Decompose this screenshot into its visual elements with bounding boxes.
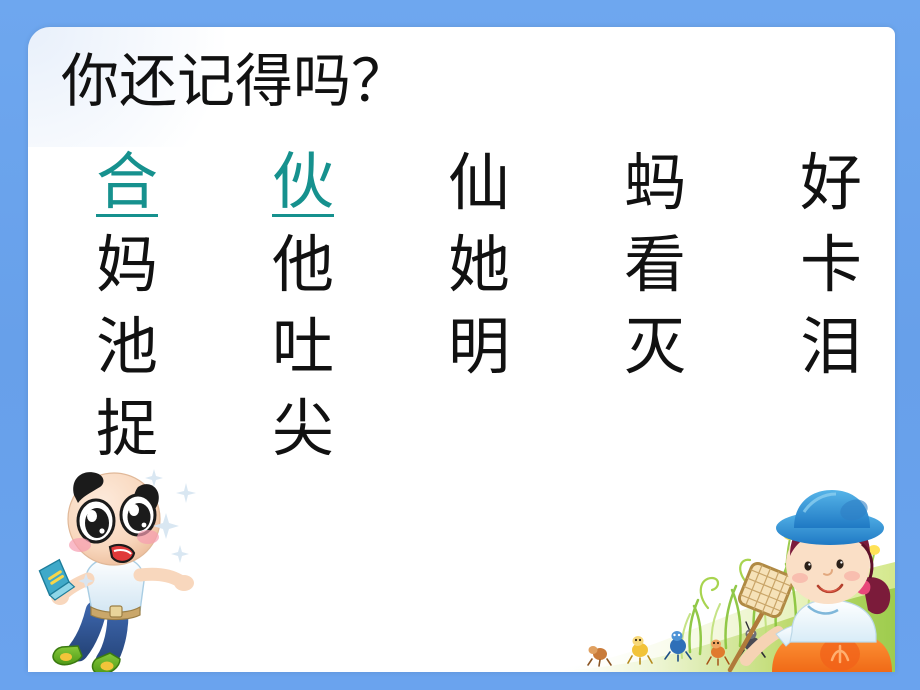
character-glyph: 明 (422, 317, 510, 379)
girl-blush-left (792, 573, 808, 583)
girl-blush-right (844, 571, 860, 581)
character-glyph: 捉 (70, 399, 158, 461)
mascot-blush-right (137, 530, 159, 544)
character-glyph: 他 (246, 235, 334, 297)
girl-eye-left (804, 561, 811, 570)
character-glyph: 泪 (774, 317, 862, 379)
belt-buckle (110, 606, 122, 617)
character-glyph: 吐 (246, 317, 334, 379)
character-row: 妈 他 她 看 卡 (70, 225, 870, 307)
blue-hat (776, 490, 884, 545)
character-grid: 合 伙 仙 蚂 好 妈 他 她 看 卡 池 吐 明 灭 泪 (70, 143, 870, 471)
character-glyph: 伙 (272, 152, 334, 217)
character-glyph: 尖 (246, 399, 334, 461)
character-cell[interactable]: 合 (70, 152, 246, 217)
character-glyph: 看 (598, 235, 686, 297)
character-cell[interactable]: 蚂 (598, 153, 774, 215)
character-cell[interactable]: 卡 (774, 235, 895, 297)
character-cell[interactable]: 灭 (598, 317, 774, 379)
character-row: 合 伙 仙 蚂 好 (70, 143, 870, 225)
character-cell[interactable]: 伙 (246, 152, 422, 217)
character-glyph: 好 (774, 153, 862, 215)
character-cell[interactable]: 看 (598, 235, 774, 297)
page-title: 你还记得吗？ (61, 53, 409, 111)
character-cell[interactable]: 池 (70, 317, 246, 379)
character-cell[interactable]: 尖 (246, 399, 422, 461)
girl-eye-right (836, 559, 843, 568)
character-cell[interactable]: 明 (422, 317, 598, 379)
girl-with-fly-swatter-and-ants-illustration (540, 482, 895, 672)
character-cell[interactable]: 泪 (774, 317, 895, 379)
character-cell[interactable]: 妈 (70, 235, 246, 297)
cartoon-boy-mascot-with-book (34, 461, 204, 672)
character-glyph: 仙 (422, 153, 510, 215)
character-row: 捉 尖 (70, 389, 870, 471)
mascot-blush-left (69, 538, 91, 552)
mascot-eye-left (78, 500, 114, 542)
character-glyph: 她 (422, 235, 510, 297)
mascot-arm-right (140, 574, 180, 581)
character-cell[interactable]: 吐 (246, 317, 422, 379)
character-cell[interactable]: 好 (774, 153, 895, 215)
character-cell[interactable]: 捉 (70, 399, 246, 461)
slide-canvas: 你还记得吗？ 合 伙 仙 蚂 好 妈 他 她 看 卡 池 吐 (0, 0, 920, 690)
white-content-panel: 你还记得吗？ 合 伙 仙 蚂 好 妈 他 她 看 卡 池 吐 (28, 27, 895, 672)
character-row: 池 吐 明 灭 泪 (70, 307, 870, 389)
character-glyph: 蚂 (598, 153, 686, 215)
character-cell[interactable]: 仙 (422, 153, 598, 215)
character-glyph: 池 (70, 317, 158, 379)
character-glyph: 妈 (70, 235, 158, 297)
character-glyph: 合 (96, 152, 158, 217)
character-cell[interactable]: 他 (246, 235, 422, 297)
character-glyph: 卡 (774, 235, 862, 297)
character-glyph: 灭 (598, 317, 686, 379)
character-cell[interactable]: 她 (422, 235, 598, 297)
mascot-hand-right (174, 575, 194, 591)
mascot-eye-right (121, 495, 155, 535)
